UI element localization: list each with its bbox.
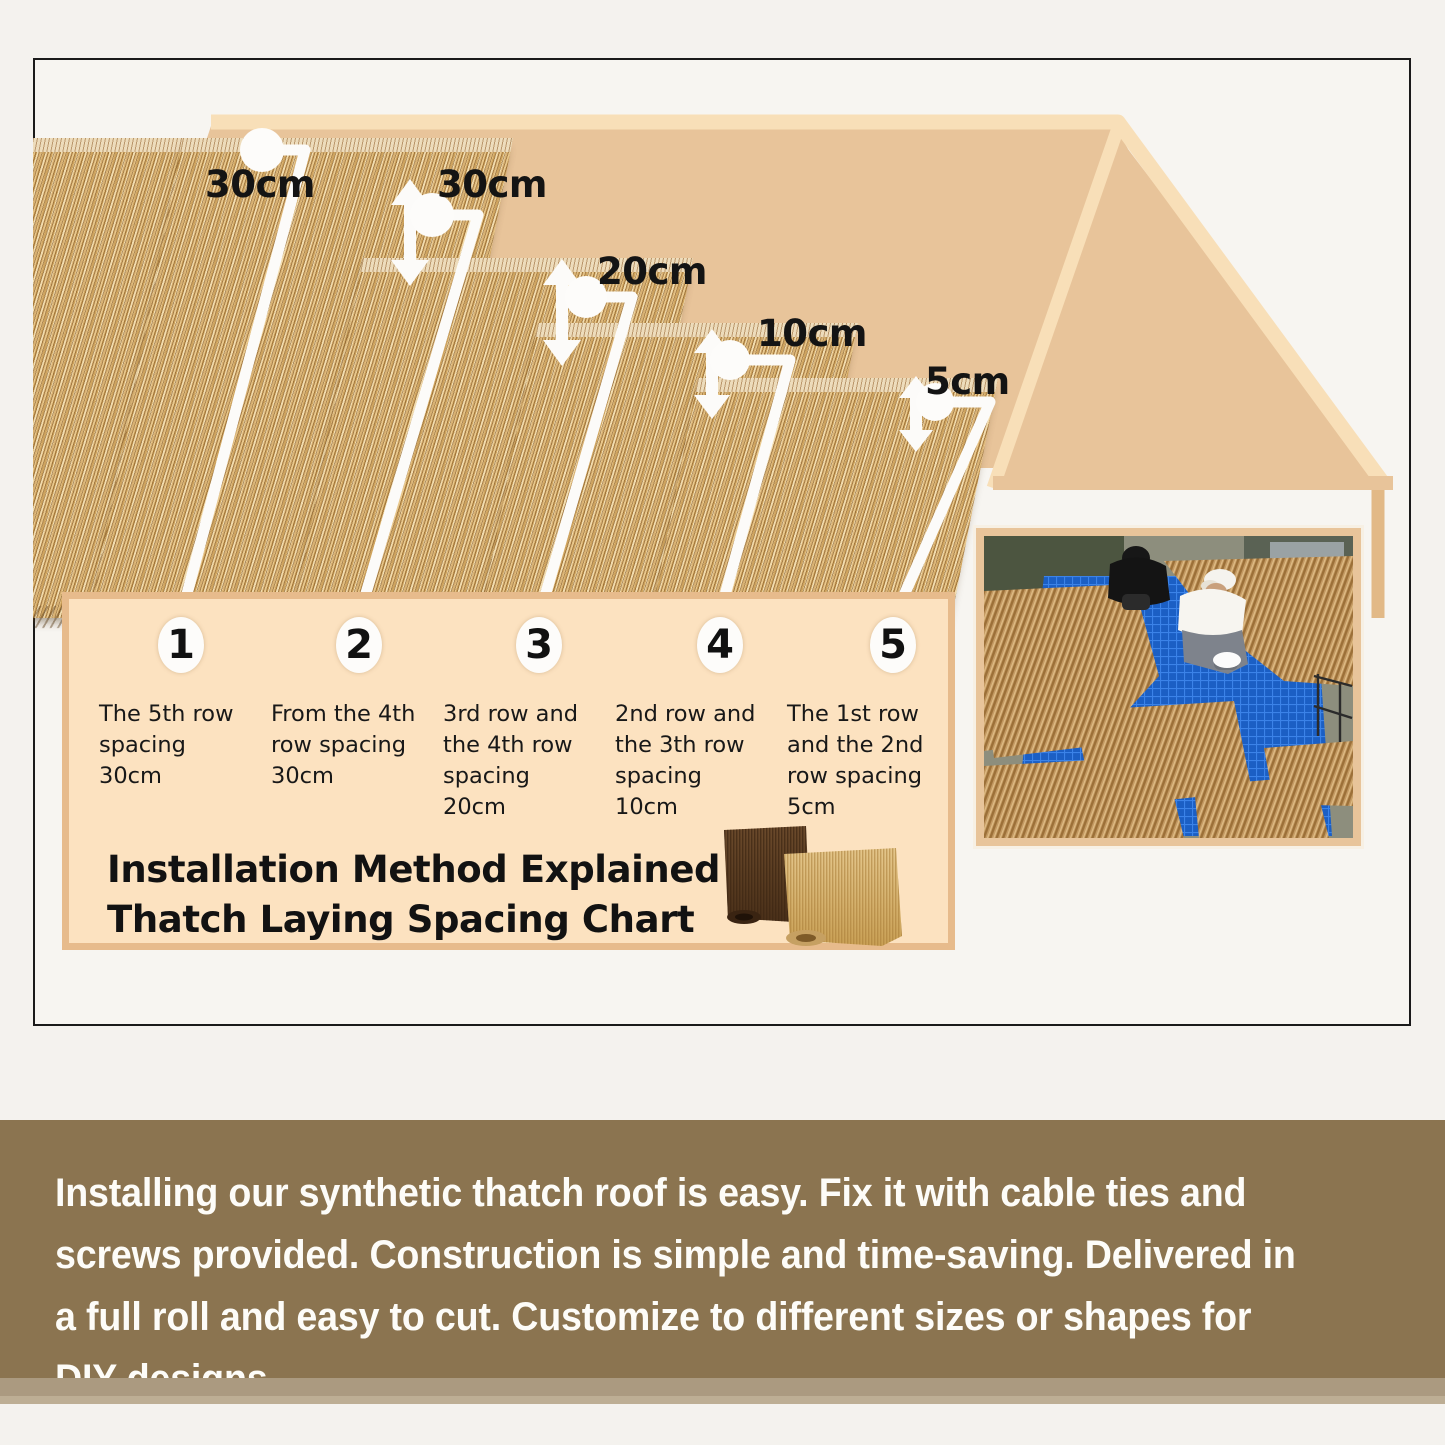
caption-column-2: From the 4th row spacing 30cm	[271, 699, 421, 823]
caption-3-line1: 3rd row and	[443, 699, 593, 730]
measure-label-4-text: 10cm	[757, 312, 867, 355]
caption-3-line2: the 4th row	[443, 730, 593, 761]
caption-column-3: 3rd row and the 4th row spacing 20cm	[443, 699, 593, 823]
installation-photo-frame	[976, 528, 1361, 846]
leader-line-2	[358, 215, 478, 620]
caption-5-line1: The 1st row	[787, 699, 937, 730]
caption-2-line2: row spacing	[271, 730, 421, 761]
step-badge-3-text: 3	[525, 622, 553, 668]
caption-2-line3: 30cm	[271, 761, 421, 792]
step-badge-2: 2	[336, 617, 382, 673]
caption-1-line1: The 5th row	[99, 699, 249, 730]
caption-column-1: The 5th row spacing 30cm	[99, 699, 249, 823]
caption-3-line3: spacing	[443, 761, 593, 792]
light-thatch-roll	[784, 848, 902, 946]
caption-4-line2: the 3th row	[615, 730, 765, 761]
measure-label-5-text: 5cm	[925, 360, 1010, 403]
leader-line-1	[180, 150, 305, 620]
chart-title-line2: Thatch Laying Spacing Chart	[107, 895, 747, 945]
caption-2-line1: From the 4th	[271, 699, 421, 730]
caption-5-line2: and the 2nd	[787, 730, 937, 761]
installation-photo	[984, 536, 1353, 838]
step-badge-3: 3	[516, 617, 562, 673]
caption-column-5: The 1st row and the 2nd row spacing 5cm	[787, 699, 937, 823]
step-badge-5-text: 5	[879, 622, 907, 668]
measure-label-2-text: 30cm	[437, 163, 547, 206]
bottom-banner: Installing our synthetic thatch roof is …	[0, 1120, 1445, 1378]
caption-5-line3: row spacing	[787, 761, 937, 792]
caption-4-line1: 2nd row and	[615, 699, 765, 730]
chart-title: Installation Method Explained : Thatch L…	[107, 845, 747, 945]
caption-columns: The 5th row spacing 30cm From the 4th ro…	[99, 699, 959, 823]
step-badge-4-text: 4	[706, 622, 734, 668]
step-badge-2-text: 2	[345, 622, 373, 668]
chart-title-line1: Installation Method Explained :	[107, 845, 747, 895]
caption-1-line3: 30cm	[99, 761, 249, 792]
caption-column-4: 2nd row and the 3th row spacing 10cm	[615, 699, 765, 823]
banner-text: Installing our synthetic thatch roof is …	[55, 1162, 1305, 1410]
step-badge-5: 5	[870, 617, 916, 673]
infographic-stage: 30cm 30cm 20cm 10cm 5cm The 5th row spac…	[0, 0, 1445, 1445]
measure-label-1-text: 30cm	[205, 163, 315, 206]
leader-line-4	[718, 360, 790, 620]
caption-4-line3: spacing	[615, 761, 765, 792]
caption-3-line4: 20cm	[443, 792, 593, 823]
step-badge-4: 4	[697, 617, 743, 673]
banner-lower-strip-2	[0, 1396, 1445, 1404]
callout-dot-4	[710, 340, 750, 380]
caption-1-line2: spacing	[99, 730, 249, 761]
measure-label-3-text: 20cm	[597, 250, 707, 293]
step-badge-1: 1	[158, 617, 204, 673]
step-badge-1-text: 1	[167, 622, 195, 668]
thatch-roll-product-photo	[706, 818, 926, 948]
